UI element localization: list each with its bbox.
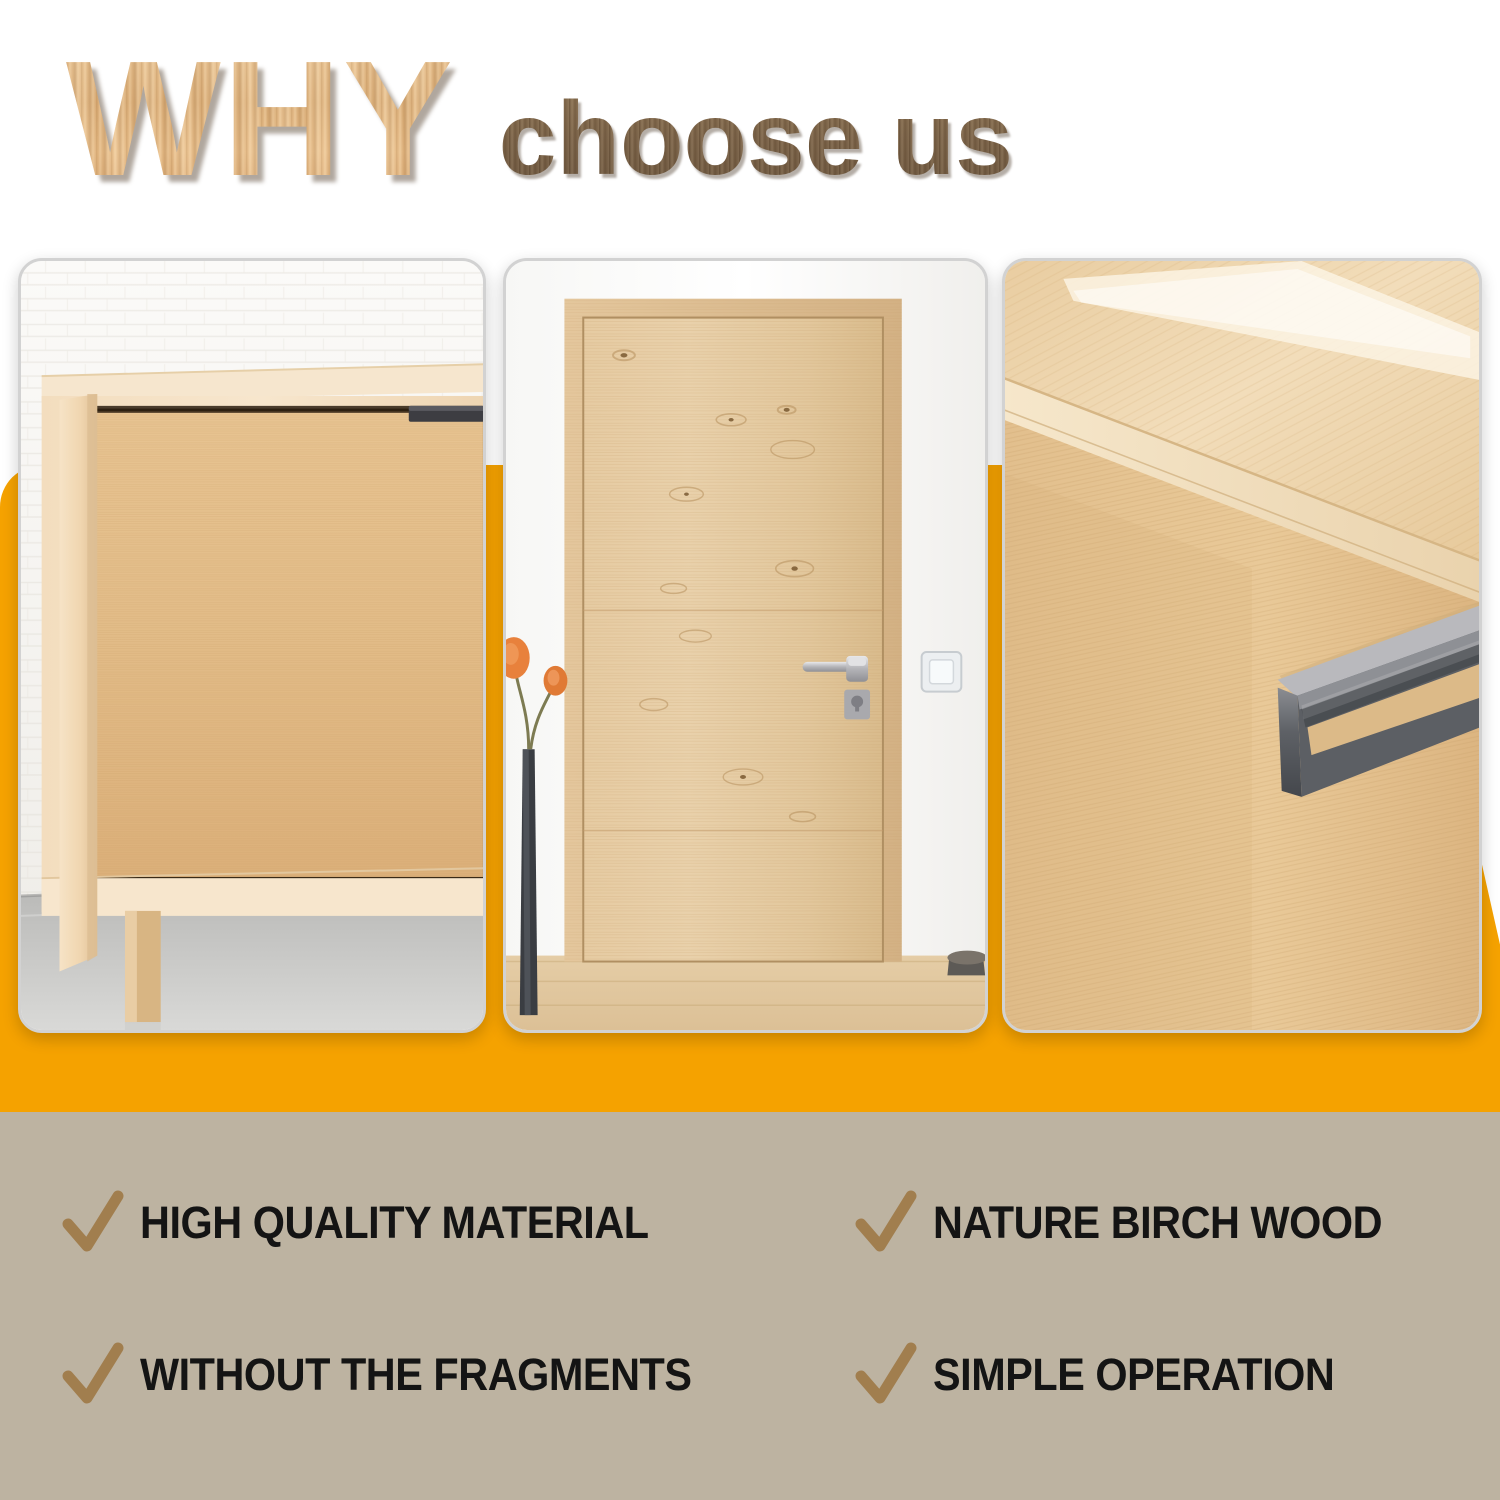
- features-panel: HIGH QUALITY MATERIAL NATURE BIRCH WOOD …: [0, 1112, 1500, 1500]
- drawer-handle-photo: [1005, 261, 1479, 1030]
- card-door[interactable]: [503, 258, 988, 1033]
- card-cabinet[interactable]: [18, 258, 486, 1033]
- door-photo: [506, 261, 985, 1030]
- card-drawer-handle[interactable]: [1002, 258, 1482, 1033]
- cabinet-photo: [21, 261, 483, 1030]
- feature-grid: HIGH QUALITY MATERIAL NATURE BIRCH WOOD …: [0, 1112, 1500, 1500]
- light-switch-icon: [922, 652, 962, 692]
- feature-label: HIGH QUALITY MATERIAL: [140, 1197, 649, 1249]
- check-icon: [855, 1190, 917, 1256]
- feature-item-high-quality-material: HIGH QUALITY MATERIAL: [62, 1190, 693, 1256]
- feature-item-nature-birch-wood: NATURE BIRCH WOOD: [855, 1190, 1421, 1256]
- feature-label: SIMPLE OPERATION: [933, 1349, 1334, 1401]
- check-icon: [855, 1342, 917, 1408]
- check-icon: [62, 1190, 124, 1256]
- feature-item-simple-operation: SIMPLE OPERATION: [855, 1342, 1369, 1408]
- feature-label: WITHOUT THE FRAGMENTS: [140, 1349, 691, 1401]
- feature-item-without-the-fragments: WITHOUT THE FRAGMENTS: [62, 1342, 739, 1408]
- photo-card-row: [0, 0, 1500, 1112]
- check-icon: [62, 1342, 124, 1408]
- feature-label: NATURE BIRCH WOOD: [933, 1197, 1382, 1249]
- door-lock-icon: [844, 690, 870, 720]
